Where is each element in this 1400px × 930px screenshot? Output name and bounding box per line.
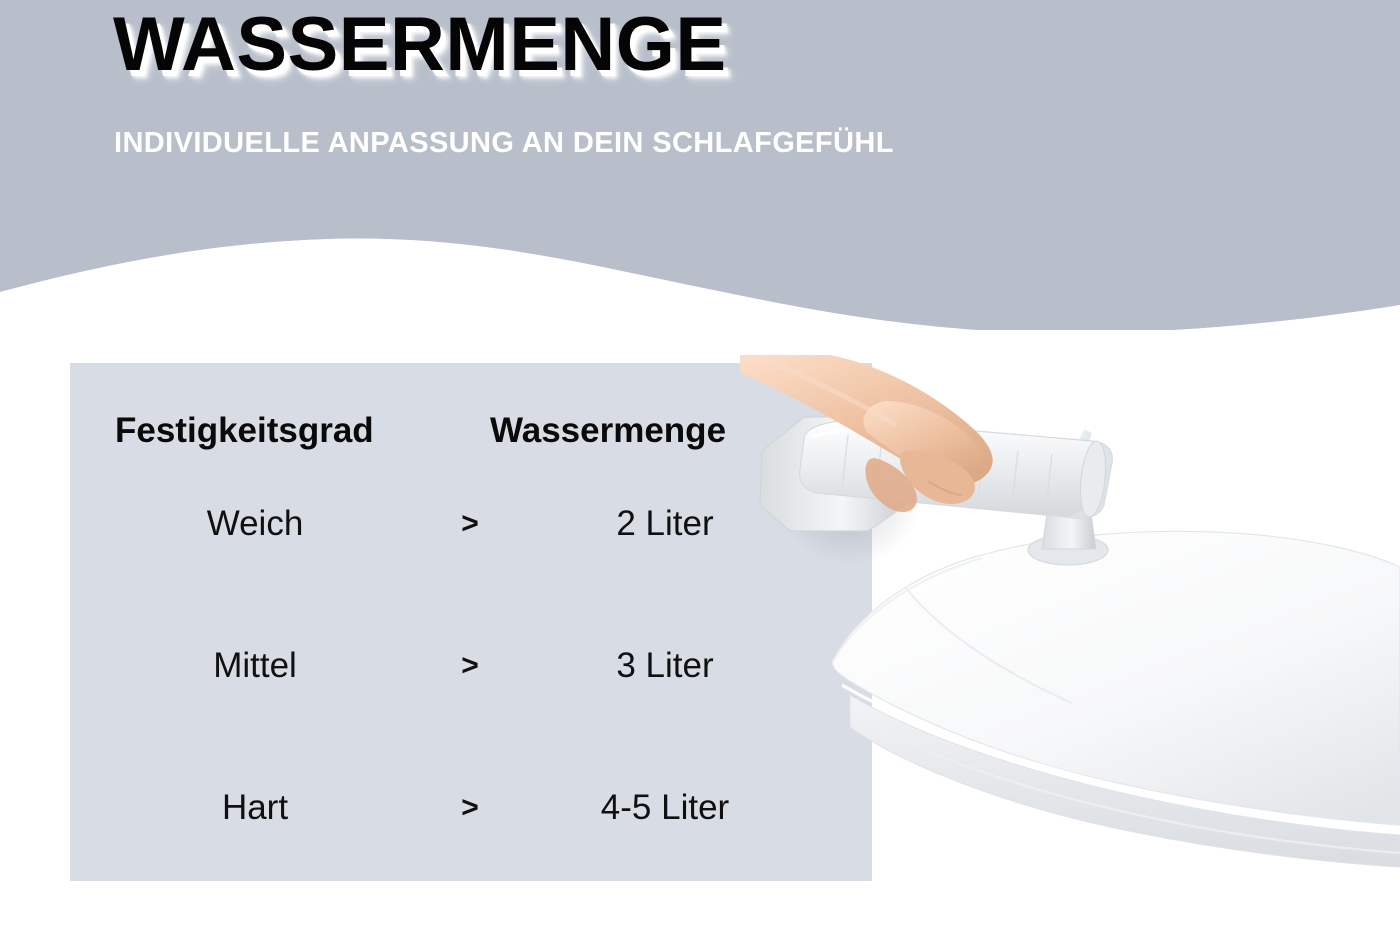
- finger-middle: [866, 458, 917, 512]
- pillow-gusset: [850, 695, 1400, 867]
- infographic-canvas: WASSERMENGE INDIVIDUELLE ANPASSUNG AN DE…: [0, 0, 1400, 930]
- jug-measure-marks: [842, 435, 1052, 508]
- cell-water-amount: 3 Liter: [500, 642, 830, 690]
- pillow-shadow: [910, 635, 1150, 735]
- column-header-water-amount: Wassermenge: [490, 409, 726, 453]
- page-subtitle: INDIVIDUELLE ANPASSUNG AN DEIN SCHLAFGEF…: [114, 126, 894, 160]
- header-band: WASSERMENGE INDIVIDUELLE ANPASSUNG AN DE…: [0, 0, 1400, 330]
- jug-spout-rim: [1066, 441, 1112, 519]
- page-title: WASSERMENGE: [113, 4, 727, 86]
- water-amount-table-panel: Festigkeitsgrad Wassermenge Weich > 2 Li…: [70, 363, 872, 881]
- table-row: Hart > 4-5 Liter: [70, 784, 872, 840]
- table-row: Weich > 2 Liter: [70, 500, 872, 556]
- cell-firmness: Hart: [70, 784, 440, 832]
- column-header-firmness: Festigkeitsgrad: [115, 409, 374, 453]
- table-row: Mittel > 3 Liter: [70, 642, 872, 698]
- cell-water-amount: 4-5 Liter: [500, 784, 830, 832]
- pillow-seam: [905, 587, 1072, 703]
- water-stream: [1062, 429, 1092, 499]
- finger-index: [900, 451, 975, 504]
- cell-firmness: Weich: [70, 500, 440, 548]
- water-pillow: [832, 531, 1400, 867]
- header-text-layer: WASSERMENGE INDIVIDUELLE ANPASSUNG AN DE…: [0, 0, 1400, 330]
- table-header-row: Festigkeitsgrad Wassermenge: [70, 409, 872, 461]
- thumb: [863, 401, 983, 480]
- cell-firmness: Mittel: [70, 642, 440, 690]
- cell-water-amount: 2 Liter: [500, 500, 830, 548]
- pillow-valve: [1028, 492, 1108, 565]
